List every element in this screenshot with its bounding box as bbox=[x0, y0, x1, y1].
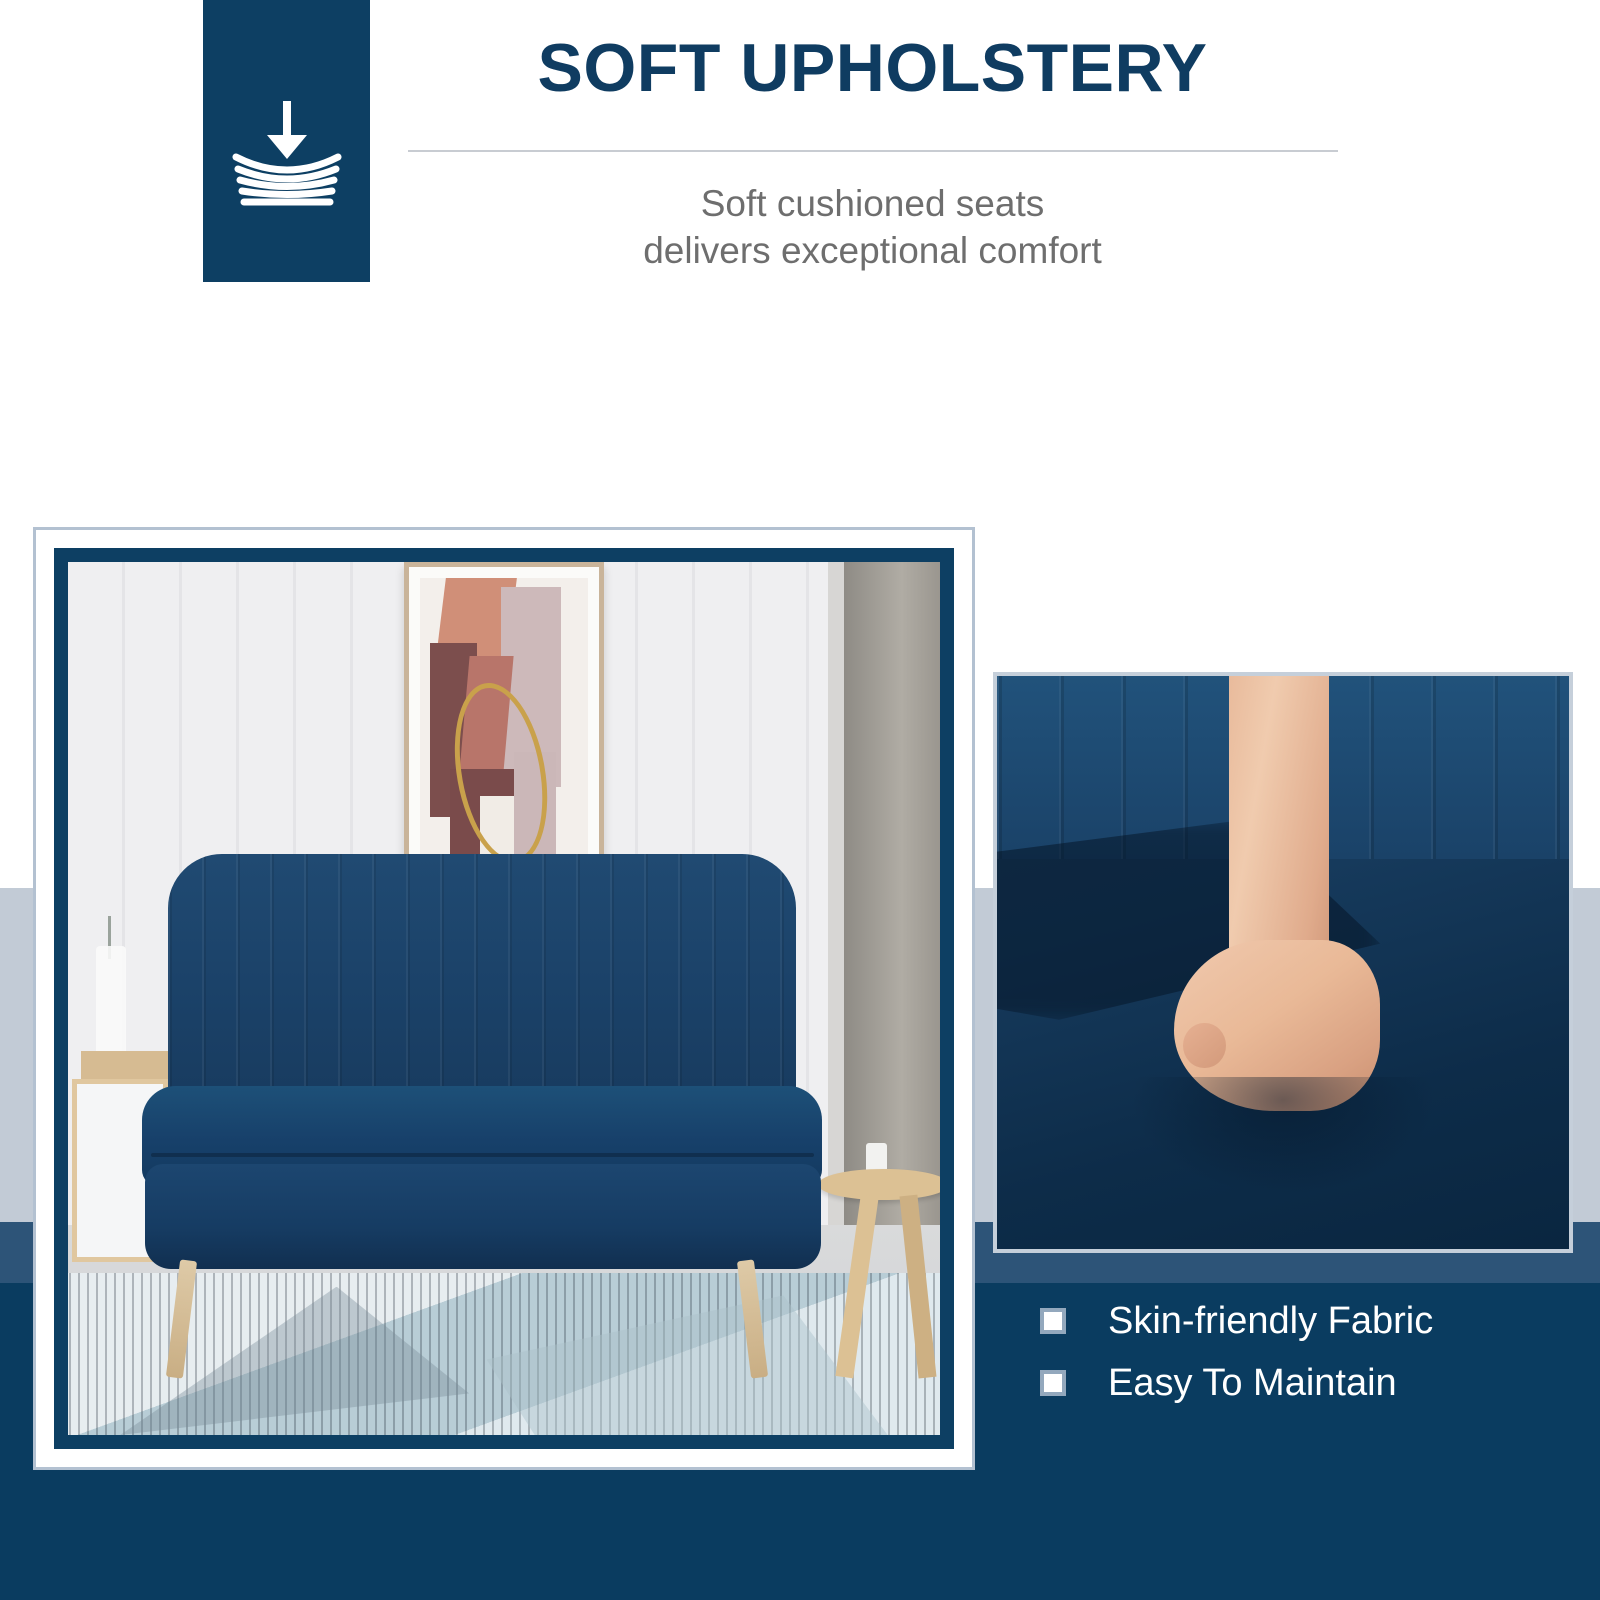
sofa-seat-piping bbox=[151, 1153, 814, 1157]
subtitle-line-2: delivers exceptional comfort bbox=[400, 227, 1345, 274]
square-bullet-icon bbox=[1040, 1370, 1066, 1396]
round-side-table-top bbox=[818, 1169, 940, 1200]
fabric-closeup-photo-frame bbox=[993, 672, 1573, 1253]
list-item: Easy To Maintain bbox=[1040, 1352, 1560, 1414]
knuckle bbox=[1183, 1023, 1226, 1069]
wall-edge bbox=[828, 562, 844, 1225]
square-bullet-icon bbox=[1040, 1308, 1066, 1334]
feature-bullet-list: Skin-friendly Fabric Easy To Maintain bbox=[1040, 1290, 1560, 1414]
list-item: Skin-friendly Fabric bbox=[1040, 1290, 1560, 1352]
infographic-page: SOFT UPHOLSTERY Soft cushioned seats del… bbox=[0, 0, 1600, 1600]
wall-dark-panel bbox=[844, 562, 940, 1225]
main-product-photo-inner-border bbox=[54, 548, 954, 1449]
subtitle-line-1: Soft cushioned seats bbox=[400, 180, 1345, 227]
cushion-indentation bbox=[1134, 1077, 1431, 1192]
decor-vase bbox=[96, 946, 127, 1059]
header-text-block: SOFT UPHOLSTERY Soft cushioned seats del… bbox=[400, 0, 1345, 290]
cushion-compression-icon bbox=[222, 87, 352, 217]
header: SOFT UPHOLSTERY Soft cushioned seats del… bbox=[0, 0, 1600, 300]
left-console-table bbox=[81, 1051, 177, 1081]
bullet-label: Easy To Maintain bbox=[1108, 1364, 1397, 1402]
main-product-photo bbox=[68, 562, 940, 1435]
feature-icon-box bbox=[203, 0, 370, 282]
main-product-photo-frame bbox=[33, 527, 975, 1470]
bullet-label: Skin-friendly Fabric bbox=[1108, 1302, 1433, 1340]
fabric-closeup-photo bbox=[997, 676, 1569, 1249]
title-divider bbox=[408, 150, 1338, 152]
sofa-base bbox=[145, 1164, 821, 1269]
page-title: SOFT UPHOLSTERY bbox=[400, 0, 1345, 102]
subtitle-block: Soft cushioned seats delivers exceptiona… bbox=[400, 180, 1345, 275]
